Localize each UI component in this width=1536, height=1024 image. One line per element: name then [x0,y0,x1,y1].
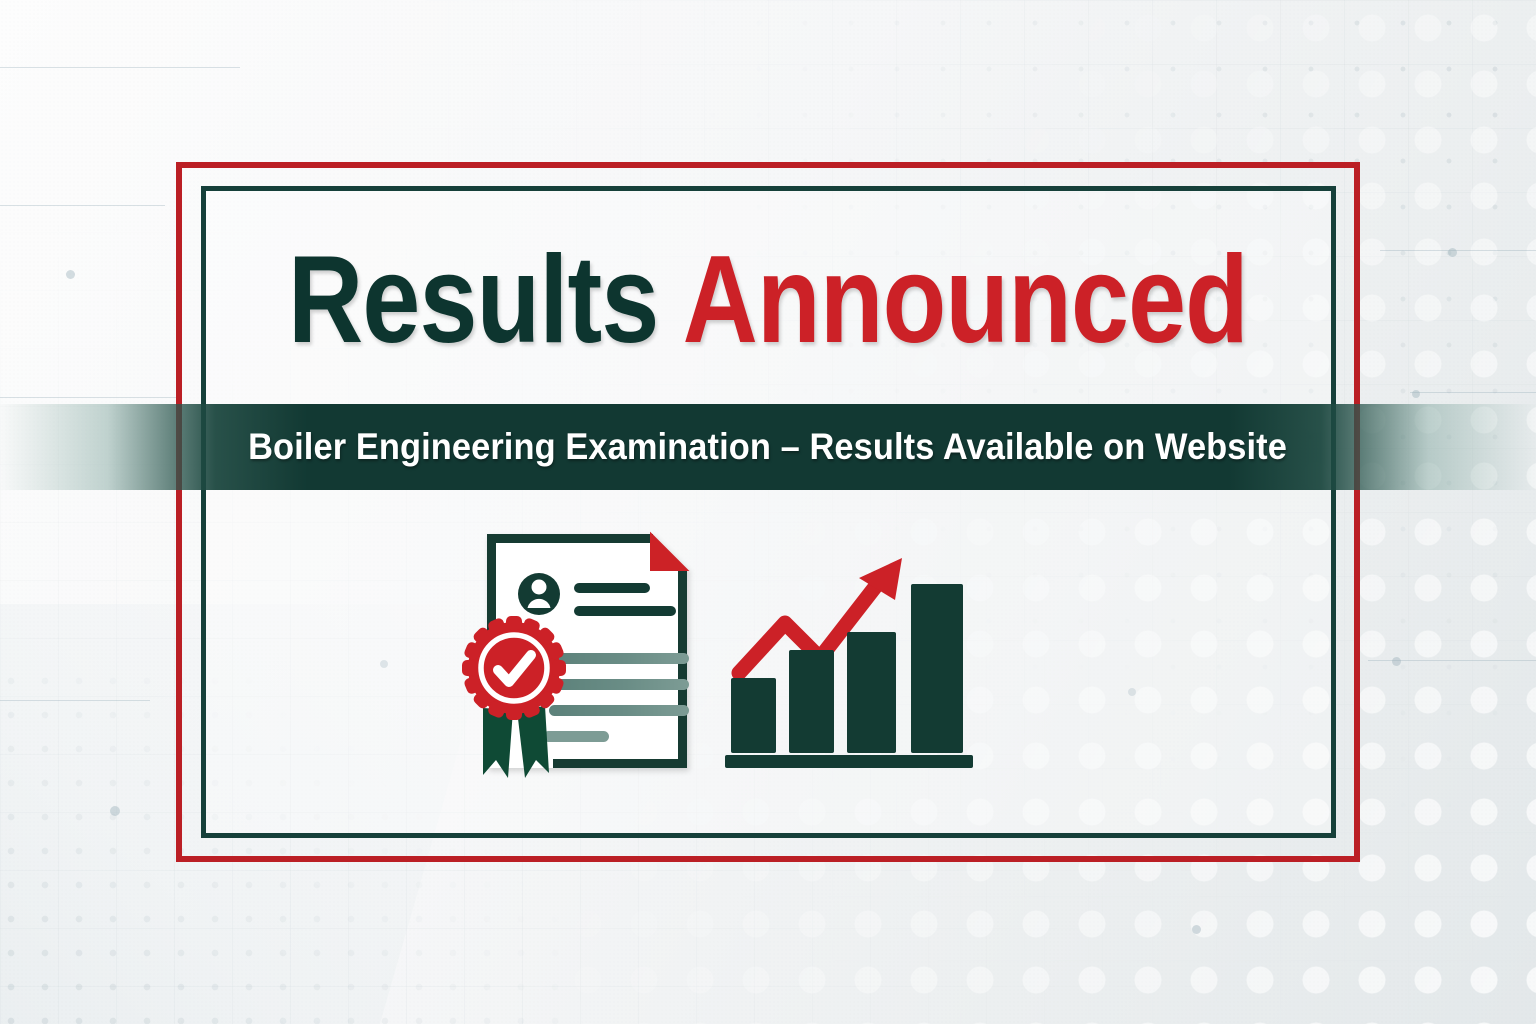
growth-bar-chart [725,558,973,768]
document-body-line [549,705,689,716]
poster-canvas: Results Announced Boiler Engineering Exa… [0,0,1536,1024]
chart-bar [911,584,963,753]
chart-bar [847,632,896,753]
document-body-line [549,679,689,690]
person-avatar-icon [518,573,560,615]
illustration-group [455,520,1055,795]
document-header-line [574,606,676,616]
chart-baseline [725,755,973,768]
subtitle-banner: Boiler Engineering Examination – Results… [0,404,1536,490]
document-top-edge [487,534,653,543]
document-header-line [574,583,650,593]
title-word-results: Results [288,231,658,369]
seal-badge [462,616,566,720]
title-word-announced: Announced [683,231,1248,369]
document-left-edge [487,534,496,634]
document-bottom-edge [553,759,687,768]
document-right-edge [678,570,687,768]
document-body-line [549,653,689,664]
subtitle-text: Boiler Engineering Examination – Results… [249,426,1288,468]
chart-bar [731,678,776,753]
document-body-line [543,731,609,742]
chart-bar [789,650,834,753]
page-title: Results Announced [123,238,1413,362]
